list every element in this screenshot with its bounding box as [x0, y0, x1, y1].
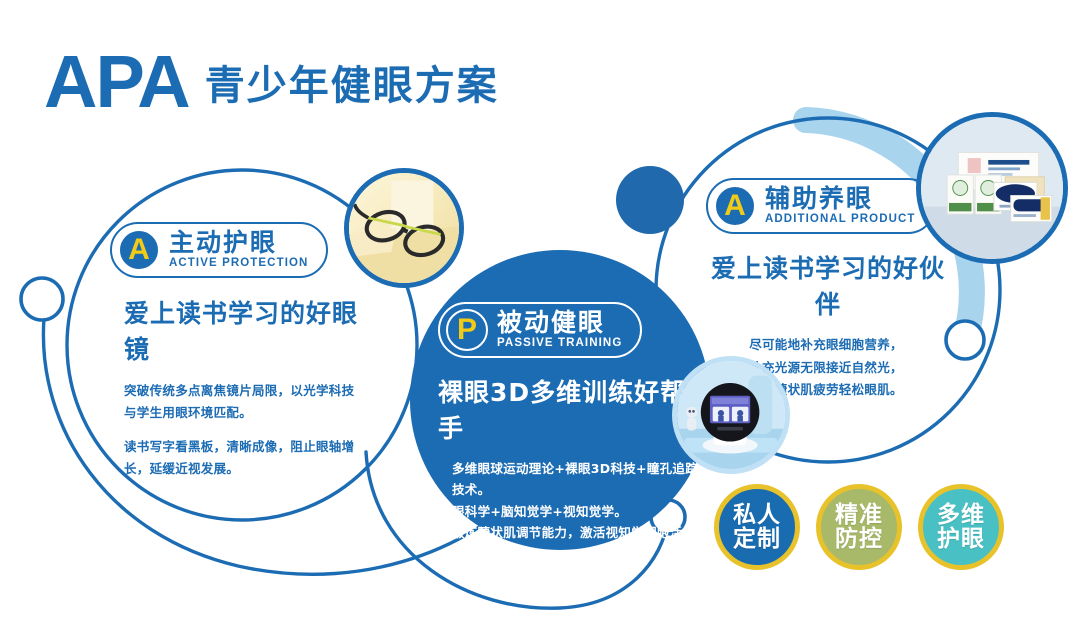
- section-paragraph: 锻炼睫状肌调节能力，激活视知觉细胞活力。: [452, 522, 702, 565]
- section-badge-active: A 主动护眼 ACTIVE PROTECTION: [110, 222, 328, 278]
- section-title-en: ADDITIONAL PRODUCT: [765, 214, 916, 226]
- page-title: APA 青少年健眼方案: [44, 46, 499, 117]
- section-title-en: ACTIVE PROTECTION: [169, 258, 308, 270]
- brand-logo-text: APA: [44, 46, 189, 117]
- badge-letter-a-icon: A: [118, 229, 160, 271]
- section-headline: 裸眼3D多维训练好帮手: [438, 373, 706, 445]
- section-title-cn: 主动护眼: [169, 230, 308, 256]
- section-badge-additional: A 辅助养眼 ADDITIONAL PRODUCT: [706, 178, 936, 234]
- section-headline: 爱上读书学习的好伙伴: [702, 249, 954, 321]
- section-active-protection: A 主动护眼 ACTIVE PROTECTION 爱上读书学习的好眼镜 突破传统…: [110, 222, 362, 480]
- section-title-cn: 辅助养眼: [765, 186, 916, 212]
- eyeglasses-photo: [344, 168, 464, 288]
- section-title-cn: 被动健眼: [497, 310, 622, 336]
- feature-badges: 私人 定制 精准 防控 多维 护眼: [714, 484, 1004, 570]
- badge-line-1: 私人: [733, 503, 781, 527]
- infographic-canvas: APA 青少年健眼方案 A 主动护眼 ACTIVE PROTECTION 爱上读…: [0, 0, 1080, 631]
- section-passive-training: P 被动健眼 PASSIVE TRAINING 裸眼3D多维训练好帮手 多维眼球…: [438, 302, 706, 564]
- section-paragraph: 尽可能地补充眼细胞营养，: [700, 334, 952, 357]
- badge-multidimensional-care[interactable]: 多维 护眼: [918, 484, 1004, 570]
- section-paragraph: 突破传统多点离焦镜片局限，以光学科技与学生用眼环境匹配。: [124, 380, 360, 424]
- badge-precise-control[interactable]: 精准 防控: [816, 484, 902, 570]
- badge-line-2: 防控: [835, 527, 883, 551]
- section-paragraph: 多维眼球运动理论+裸眼3D科技+瞳孔追踪技术。: [452, 458, 702, 501]
- product-boxes-photo: [916, 112, 1068, 264]
- badge-letter-p-icon: P: [446, 309, 488, 351]
- section-paragraph: 眼科学+脑知觉学+视知觉学。: [452, 501, 702, 522]
- blue-dot-accent: [616, 166, 684, 234]
- badge-letter-a-icon: A: [714, 185, 756, 227]
- badge-line-2: 定制: [733, 527, 781, 551]
- badge-private-custom[interactable]: 私人 定制: [714, 484, 800, 570]
- badge-line-1: 精准: [835, 503, 883, 527]
- section-paragraph: 读书写字看黑板，清晰成像，阻止眼轴增长，延缓近视发展。: [124, 436, 360, 480]
- section-title-en: PASSIVE TRAINING: [497, 338, 622, 350]
- page-subtitle: 青少年健眼方案: [205, 53, 499, 117]
- section-badge-passive: P 被动健眼 PASSIVE TRAINING: [438, 302, 642, 358]
- section-headline: 爱上读书学习的好眼镜: [124, 294, 362, 366]
- badge-line-1: 多维: [937, 503, 985, 527]
- badge-line-2: 护眼: [937, 527, 985, 551]
- training-device-photo: [672, 356, 790, 474]
- left-terminal-ring: [21, 278, 63, 320]
